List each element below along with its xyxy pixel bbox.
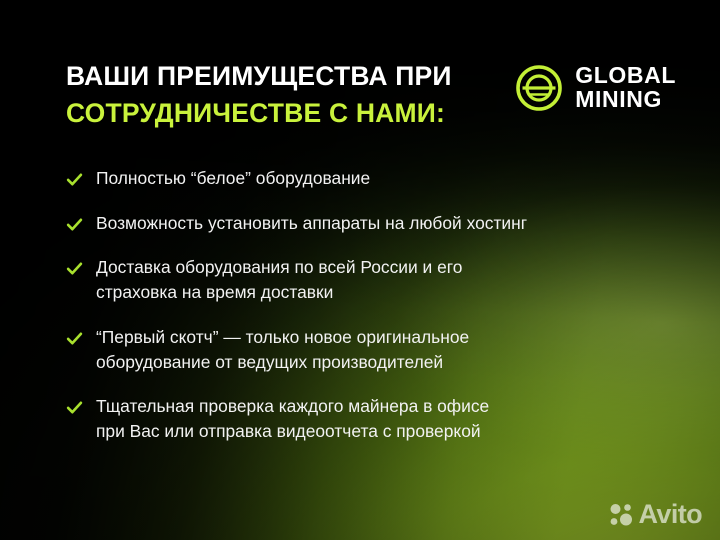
list-item: Тщательная проверка каждого майнера в оф… [66,394,692,443]
check-icon [66,260,83,277]
brand-name-line-2: MINING [575,88,676,112]
check-icon [66,216,83,233]
list-item: Доставка оборудования по всей России и е… [66,255,692,304]
avito-wordmark: Avito [639,501,703,528]
list-item: Полностью “белое” оборудование [66,166,692,191]
avito-watermark: Avito [609,501,703,528]
headline-line-2: СОТРУДНИЧЕСТВЕ С НАМИ: [66,95,452,132]
avito-dots-icon [609,502,635,528]
check-icon [66,399,83,416]
poster-header: ВАШИ ПРЕИМУЩЕСТВА ПРИ СОТРУДНИЧЕСТВЕ С Н… [66,58,680,132]
headline-line-1: ВАШИ ПРЕИМУЩЕСТВА ПРИ [66,58,452,95]
list-item: “Первый скотч” — только новое оригинальн… [66,325,692,374]
check-icon [66,330,83,347]
page-title: ВАШИ ПРЕИМУЩЕСТВА ПРИ СОТРУДНИЧЕСТВЕ С Н… [66,58,452,132]
brand-name-line-1: GLOBAL [575,64,676,88]
global-mining-ring-icon [515,64,563,112]
benefits-list: Полностью “белое” оборудование Возможнос… [66,166,692,444]
list-item-text: Возможность установить аппараты на любой… [96,211,527,236]
brand-logo: GLOBAL MINING [515,64,676,112]
check-icon [66,171,83,188]
promo-poster: ВАШИ ПРЕИМУЩЕСТВА ПРИ СОТРУДНИЧЕСТВЕ С Н… [0,0,720,540]
list-item-text: “Первый скотч” — только новое оригинальн… [96,325,469,374]
list-item: Возможность установить аппараты на любой… [66,211,692,236]
list-item-text: Доставка оборудования по всей России и е… [96,255,462,304]
brand-name: GLOBAL MINING [575,64,676,112]
list-item-text: Тщательная проверка каждого майнера в оф… [96,394,489,443]
list-item-text: Полностью “белое” оборудование [96,166,370,191]
